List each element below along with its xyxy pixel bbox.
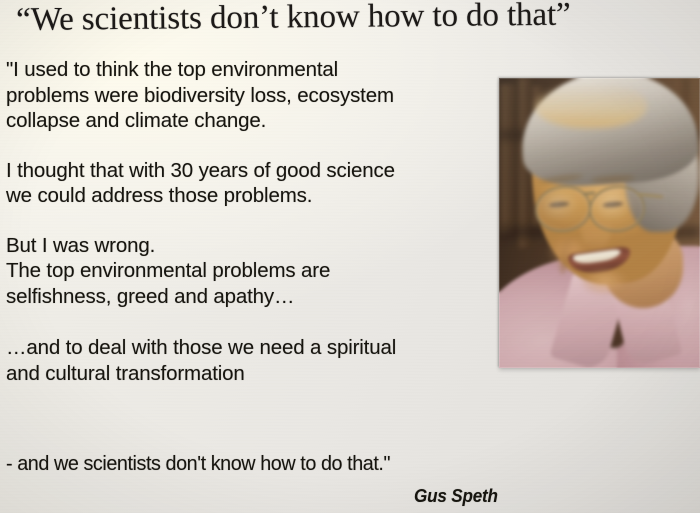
quote-paragraph-2: I thought that with 30 years of good sci… xyxy=(6,158,506,209)
portrait-illustration xyxy=(499,78,700,368)
quote-paragraph-4: …and to deal with those we need a spirit… xyxy=(6,335,506,386)
chin xyxy=(577,268,633,300)
quote-body: "I used to think the top environmental p… xyxy=(6,57,506,412)
quote-paragraph-3: But I was wrong. The top environmental p… xyxy=(6,233,506,310)
portrait-photo xyxy=(499,78,700,368)
quote-closing-line: - and we scientists don't know how to do… xyxy=(6,451,546,476)
quote-attribution: Gus Speth xyxy=(414,486,498,507)
slide-headline: “We scientists don’t know how to do that… xyxy=(16,0,656,39)
slide-canvas: “We scientists don’t know how to do that… xyxy=(0,0,700,513)
quote-paragraph-1: "I used to think the top environmental p… xyxy=(6,57,506,134)
bookshelf-slat xyxy=(501,84,517,234)
hairline xyxy=(535,82,647,128)
